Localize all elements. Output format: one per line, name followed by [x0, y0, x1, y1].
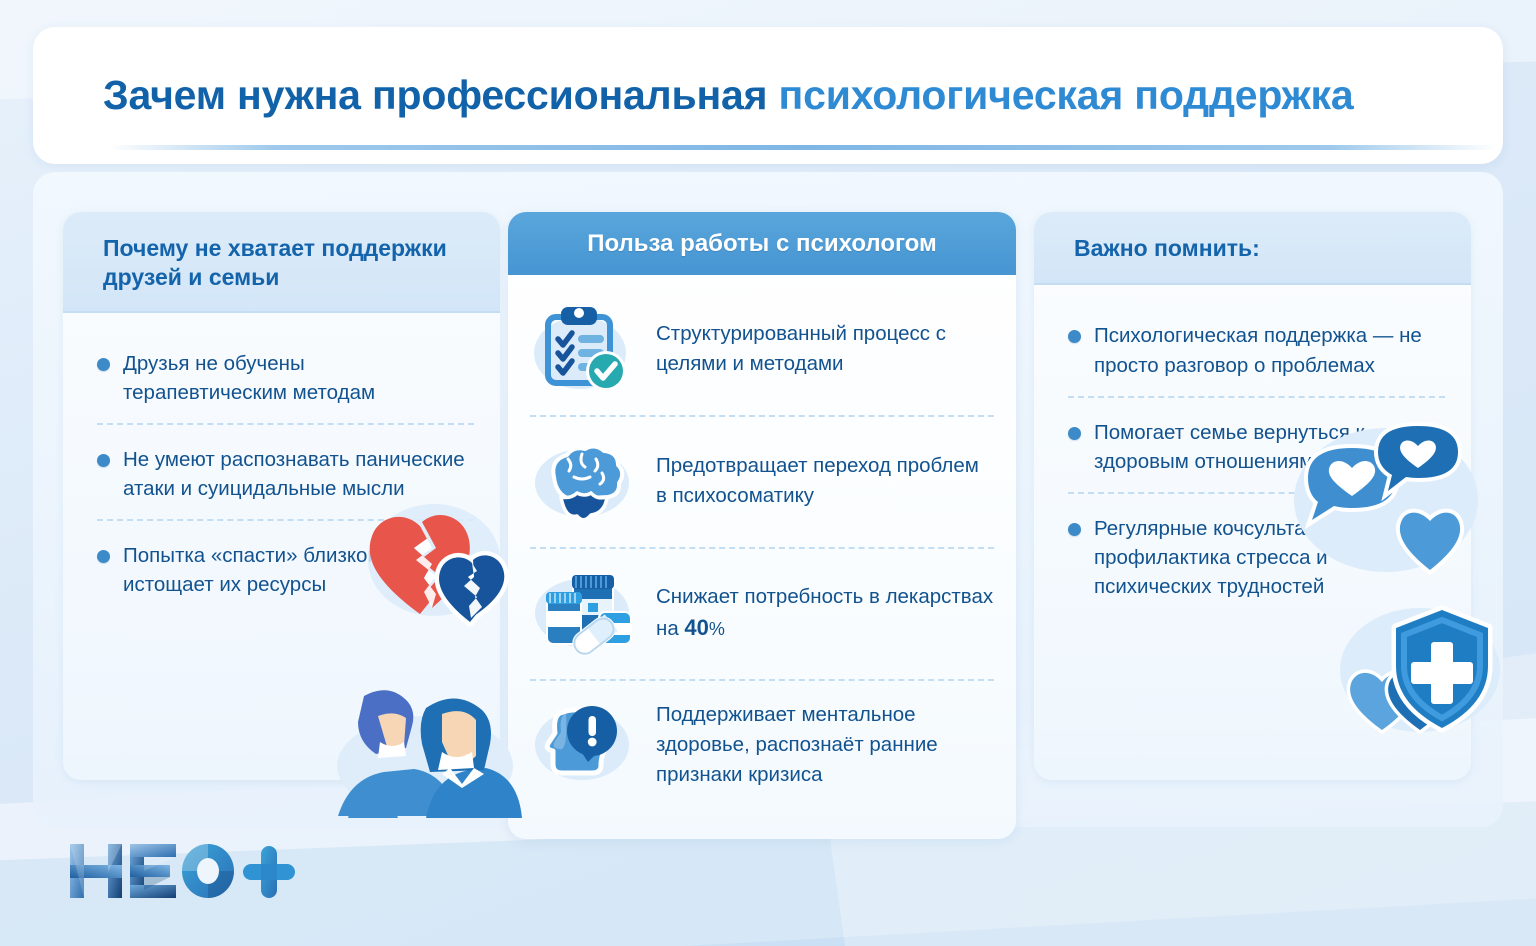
list-item: Регулярные кочсультации — профилактика с…: [1068, 492, 1445, 617]
page-title: Зачем нужна профессиональная психологиче…: [103, 75, 1353, 116]
list-item: Психологическая поддержка — не просто ра…: [1068, 311, 1445, 395]
bullet-dot-icon: [1068, 523, 1081, 536]
list-item: Помогает семье вернуться к здоровым отно…: [1068, 396, 1445, 492]
list-item: Предотвращает переход проблем в психосом…: [530, 415, 994, 547]
list-item: Не умеют распознавать панические атаки и…: [97, 423, 474, 519]
card-heading-middle: Польза работы с психологом: [508, 212, 1016, 275]
infographic-canvas: Зачем нужна профессиональная психологиче…: [0, 0, 1536, 946]
clipboard-check-icon: [530, 301, 638, 397]
list-item-label: Попытка «спасти» близкого истощает их ре…: [123, 541, 474, 599]
page-title-primary: Зачем нужна профессиональная: [103, 72, 767, 118]
card-benefits-of-therapy: Польза работы с психологом: [508, 212, 1016, 839]
pills-icon: [530, 565, 638, 661]
list-item-label: Друзья не обучены терапевтическим метода…: [123, 349, 474, 407]
list-item: Друзья не обучены терапевтическим метода…: [97, 339, 474, 423]
list-item: Попытка «спасти» близкого истощает их ре…: [97, 519, 474, 615]
logo-letter-e: [130, 844, 176, 898]
list-item-label: Не умеют распознавать панические атаки и…: [123, 445, 474, 503]
list-item-label: Регулярные кочсультации — профилактика с…: [1094, 514, 1445, 601]
list-item: Структурированный процесс с целями и мет…: [530, 285, 994, 415]
card-heading-right: Важно помнить:: [1034, 212, 1471, 285]
card-heading-left: Почему не хватает поддержки друзей и сем…: [63, 212, 500, 313]
list-item-label: Поддерживает ментальное здоровье, распоз…: [656, 700, 994, 789]
head-alert-icon: [530, 697, 638, 793]
benefit-value: 40: [684, 615, 708, 640]
list-item-label: Предотвращает переход проблем в психосом…: [656, 451, 994, 510]
bullet-dot-icon: [1068, 427, 1081, 440]
page-title-secondary: психологическая поддержка: [767, 72, 1353, 118]
brand-logo: [68, 838, 298, 904]
bullet-dot-icon: [97, 550, 110, 563]
logo-letter-n: [70, 844, 122, 898]
list-right: Психологическая поддержка — не просто ра…: [1034, 285, 1471, 617]
title-card: Зачем нужна профессиональная психологиче…: [33, 27, 1503, 164]
list-item-label: Снижает потребность в лекарствах на 40%: [656, 582, 994, 644]
bullet-dot-icon: [97, 454, 110, 467]
list-item: Поддерживает ментальное здоровье, распоз…: [530, 679, 994, 811]
list-left: Друзья не обучены терапевтическим метода…: [63, 313, 500, 616]
list-item-label: Помогает семье вернуться к здоровым отно…: [1094, 418, 1445, 476]
list-item: Снижает потребность в лекарствах на 40%: [530, 547, 994, 679]
list-item-label: Психологическая поддержка — не просто ра…: [1094, 321, 1445, 379]
bullet-dot-icon: [97, 358, 110, 371]
benefit-unit: %: [709, 619, 725, 639]
card-important-to-remember: Важно помнить: Психологическая поддержка…: [1034, 212, 1471, 780]
list-item-label: Структурированный процесс с целями и мет…: [656, 319, 994, 378]
title-underline-rule: [108, 145, 1498, 150]
card-why-friends-not-enough: Почему не хватает поддержки друзей и сем…: [63, 212, 500, 780]
list-middle: Структурированный процесс с целями и мет…: [508, 275, 1016, 821]
bullet-dot-icon: [1068, 330, 1081, 343]
brain-icon: [530, 433, 638, 529]
logo-plus-icon: [243, 846, 295, 898]
logo-letter-o: [182, 844, 234, 898]
